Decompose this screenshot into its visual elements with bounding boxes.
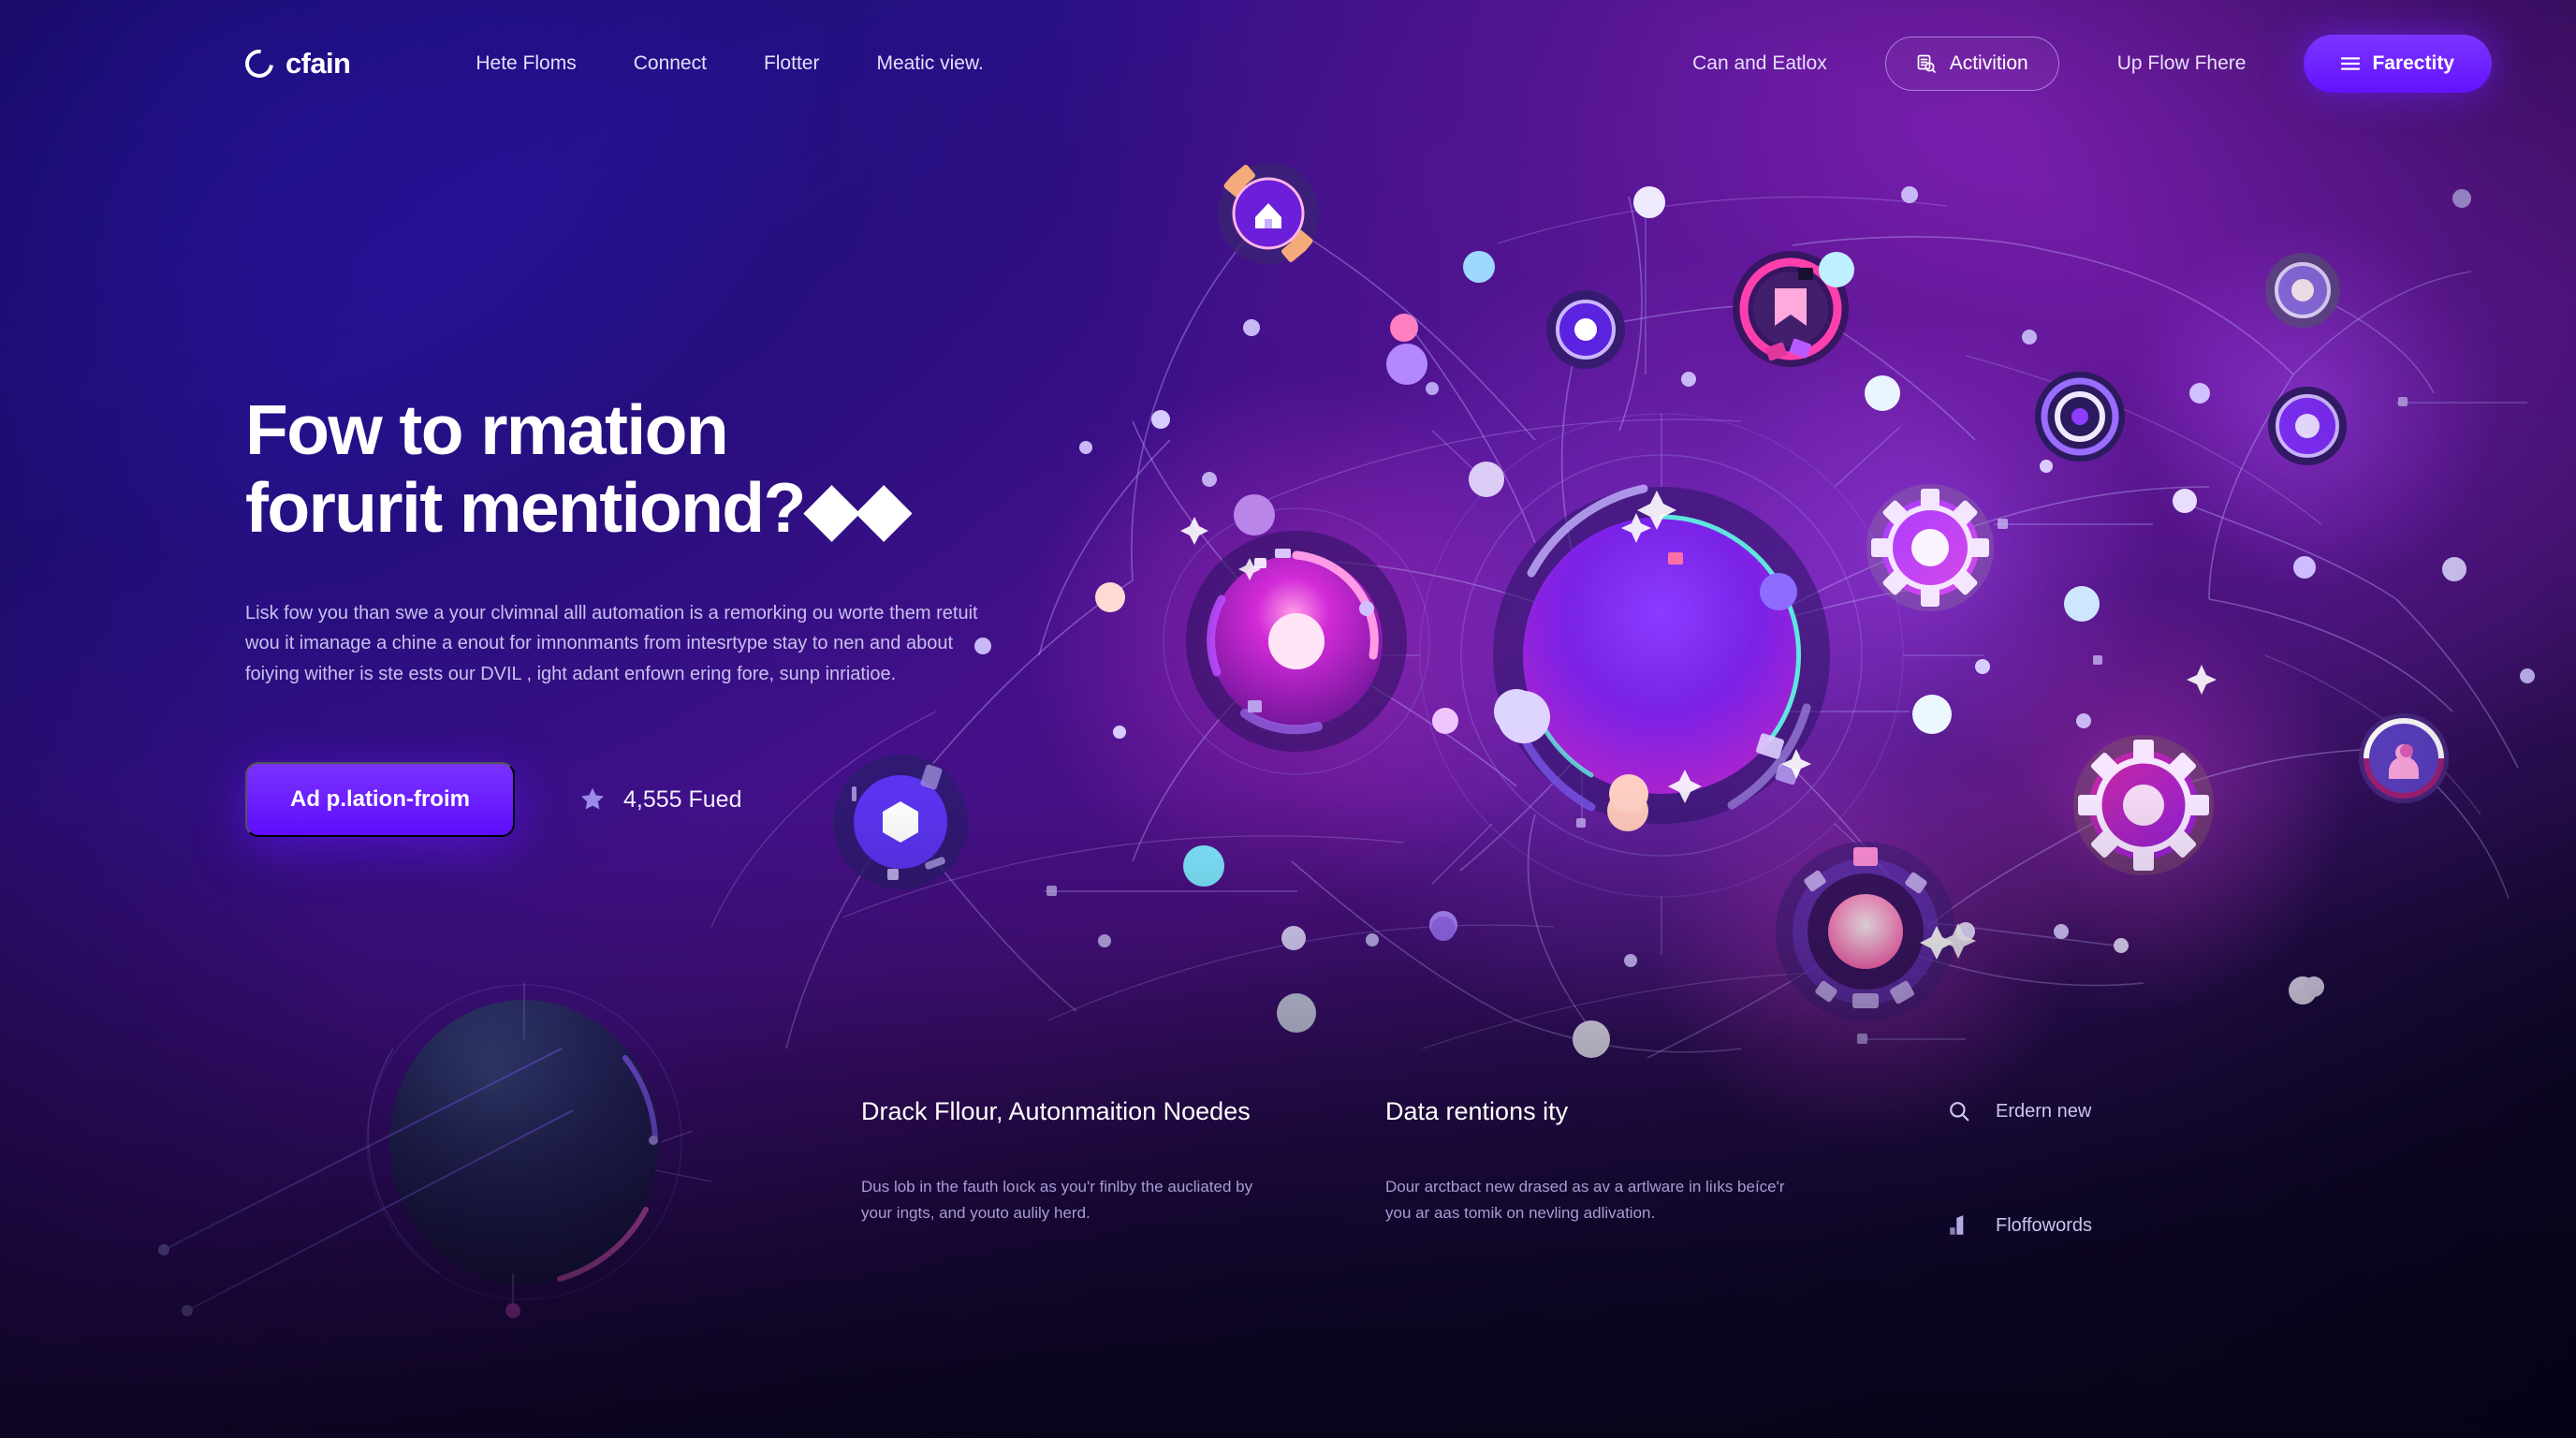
nav-item-1[interactable]: Connect <box>634 52 707 75</box>
utility-link-right[interactable]: Up Flow Fhere <box>2117 52 2247 75</box>
target-node <box>2035 372 2125 462</box>
header-actions: Can and Eatlox Activition Up Flow Fhere <box>1692 35 2492 93</box>
quick-link-search[interactable]: Erdern new <box>1947 1099 2092 1123</box>
farectity-button[interactable]: Farectity <box>2304 35 2492 93</box>
feature-title-0: Drack Fllour, Autonmaition Noedes <box>861 1093 1254 1129</box>
search-icon <box>1947 1099 1971 1123</box>
farectity-label: Farectity <box>2372 52 2454 75</box>
brand-name: cfain <box>285 47 350 81</box>
page-canvas: cfain Hete Floms Connect Flotter Meatic … <box>0 0 2576 1438</box>
activition-button[interactable]: Activition <box>1885 37 2059 91</box>
rating-block: 4,555 Fued <box>578 785 742 814</box>
nav-item-0[interactable]: Hete Floms <box>476 52 576 75</box>
gear-node-a <box>2073 735 2214 875</box>
home-node <box>1218 163 1319 264</box>
brand-logo[interactable]: cfain <box>245 47 350 81</box>
features-section: Drack Fllour, Autonmaition Noedes Dus lo… <box>861 1093 2464 1238</box>
quick-link-label-1: Floffowords <box>1996 1215 2092 1237</box>
hero-section: Fow to rmation forurit mentiond?◆◆ Lisk … <box>245 391 1032 837</box>
activition-label: Activition <box>1950 52 2028 75</box>
headline-line-2: forurit mentiond? <box>245 468 805 547</box>
primary-cta-button[interactable]: Ad p.lation-froim <box>245 762 515 837</box>
pink-core-node <box>1776 842 1955 1021</box>
ring-node-b <box>1546 290 1625 369</box>
nav-item-2[interactable]: Flotter <box>764 52 820 75</box>
ring-node-c <box>2265 253 2340 328</box>
feature-body-0: Dus lob in the fauth loıck as you'r finl… <box>861 1174 1273 1225</box>
hamburger-menu-icon <box>2341 56 2360 71</box>
gear-node-b <box>1866 484 1994 611</box>
bar-chart-icon <box>1947 1213 1971 1238</box>
site-header: cfain Hete Floms Connect Flotter Meatic … <box>0 0 2576 127</box>
activity-report-icon <box>1916 53 1937 74</box>
hero-actions: Ad p.lation-froim 4,555 Fued <box>245 762 1032 837</box>
utility-link-left[interactable]: Can and Eatlox <box>1692 52 1827 75</box>
headline-diamonds: ◆◆ <box>805 468 909 547</box>
nav-item-3[interactable]: Meatic view. <box>876 52 983 75</box>
feature-body-1: Dour arctbact new drased as av a artlwar… <box>1385 1174 1797 1225</box>
ring-node-a <box>2268 387 2347 465</box>
primary-nav: Hete Floms Connect Flotter Meatic view. <box>476 52 983 75</box>
feature-card-0: Drack Fllour, Autonmaition Noedes Dus lo… <box>861 1093 1385 1238</box>
headline-line-1: Fow to rmation <box>245 390 727 469</box>
quick-link-chart[interactable]: Floffowords <box>1947 1213 2092 1238</box>
hero-paragraph: Lisk fow you than swe a your clvimnal al… <box>245 598 1003 689</box>
page-title: Fow to rmation forurit mentiond?◆◆ <box>245 391 1032 546</box>
quick-links: Erdern new Floffowords <box>1947 1093 2092 1238</box>
feature-title-1: Data rentions ity <box>1385 1093 1778 1129</box>
star-icon <box>578 785 607 814</box>
rating-value: 4,555 Fued <box>623 786 742 814</box>
feature-card-1: Data rentions ity Dour arctbact new dras… <box>1385 1093 1910 1238</box>
ring-logo-icon <box>240 44 279 83</box>
quick-link-label-0: Erdern new <box>1996 1101 2091 1123</box>
sphere-node <box>158 983 711 1318</box>
user-node <box>2359 713 2449 803</box>
